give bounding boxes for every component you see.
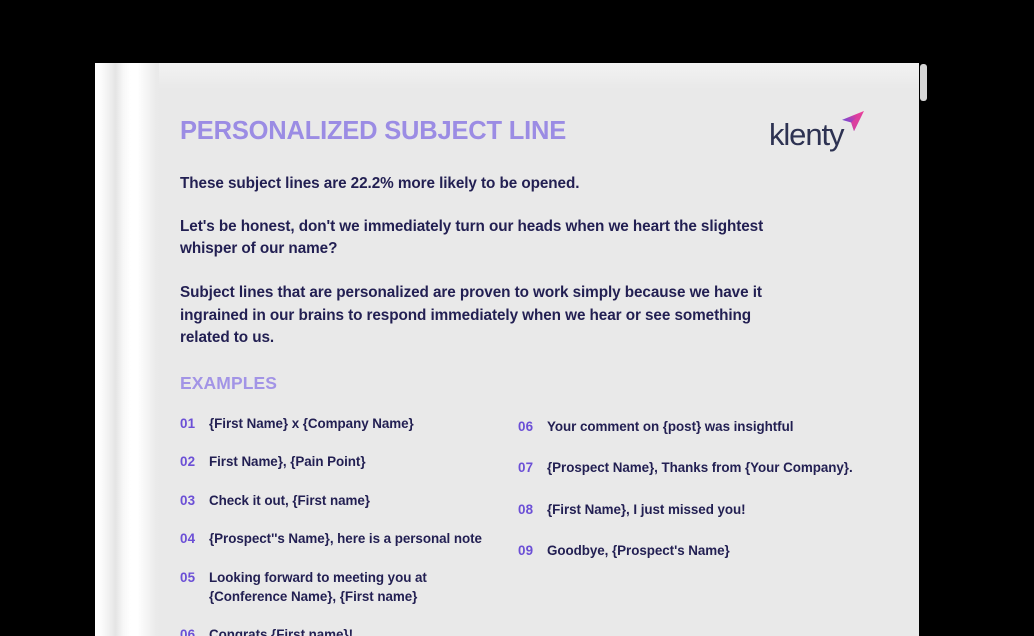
intro-paragraph-3: Subject lines that are personalized are … — [180, 282, 792, 350]
list-item-text: {Prospect Name}, Thanks from {Your Compa… — [547, 458, 853, 477]
list-item-number: 08 — [518, 500, 547, 519]
list-item-text-line2: {Conference Name}, {First name} — [209, 587, 427, 606]
screenshot-canvas: PERSONALIZED SUBJECT LINE klenty — [0, 0, 1034, 636]
examples-columns: 01 {First Name} x {Company Name} 02 Firs… — [180, 414, 891, 636]
list-item-number: 03 — [180, 491, 209, 510]
paper-plane-icon — [839, 109, 866, 136]
list-item-text: Check it out, {First name} — [209, 491, 370, 510]
list-item-text: Goodbye, {Prospect's Name} — [547, 541, 730, 560]
list-item-number: 04 — [180, 529, 209, 548]
list-item-number: 07 — [518, 458, 547, 477]
examples-right-column: 06 Your comment on {post} was insightful… — [518, 414, 878, 636]
list-item: 08 {First Name}, I just missed you! — [518, 500, 878, 519]
list-item: 06 Congrats {First name}! Have you thoug… — [180, 625, 518, 636]
klenty-logo: klenty — [769, 107, 867, 163]
list-item-text: Your comment on {post} was insightful — [547, 417, 793, 436]
list-item: 07 {Prospect Name}, Thanks from {Your Co… — [518, 458, 878, 477]
logo-wordmark: klenty — [769, 119, 843, 150]
list-item-number: 02 — [180, 452, 209, 471]
vertical-scrollbar-thumb[interactable] — [920, 64, 927, 101]
list-item-number: 09 — [518, 541, 547, 560]
list-item: 03 Check it out, {First name} — [180, 491, 518, 510]
list-item-number: 05 — [180, 568, 209, 587]
list-item-text: First Name}, {Pain Point} — [209, 452, 366, 471]
intro-paragraph-1: These subject lines are 22.2% more likel… — [180, 173, 792, 196]
list-item: 01 {First Name} x {Company Name} — [180, 414, 518, 433]
list-item-text-line1: Looking forward to meeting you at — [209, 570, 427, 585]
list-item-number: 06 — [180, 625, 209, 636]
list-item-text: Looking forward to meeting you at {Confe… — [209, 568, 427, 607]
list-item: 09 Goodbye, {Prospect's Name} — [518, 541, 878, 560]
examples-left-column: 01 {First Name} x {Company Name} 02 Firs… — [180, 414, 518, 636]
list-item-text: {First Name}, I just missed you! — [547, 500, 746, 519]
list-item-number: 06 — [518, 417, 547, 436]
list-item: 05 Looking forward to meeting you at {Co… — [180, 568, 518, 607]
list-item: 02 First Name}, {Pain Point} — [180, 452, 518, 471]
list-item-text-line1: Congrats {First name}! — [209, 627, 353, 636]
list-item-number: 01 — [180, 414, 209, 433]
document-header: PERSONALIZED SUBJECT LINE klenty — [180, 107, 891, 173]
list-item-text: Congrats {First name}! Have you thought … — [209, 625, 455, 636]
list-item-text: {Prospect''s Name}, here is a personal n… — [209, 529, 482, 548]
page-title: PERSONALIZED SUBJECT LINE — [180, 117, 566, 146]
list-item: 06 Your comment on {post} was insightful — [518, 417, 878, 436]
page-curl-binding — [95, 63, 159, 636]
examples-heading: EXAMPLES — [180, 373, 891, 394]
list-item-text: {First Name} x {Company Name} — [209, 414, 414, 433]
list-item: 04 {Prospect''s Name}, here is a persona… — [180, 529, 518, 548]
document-content: PERSONALIZED SUBJECT LINE klenty — [158, 63, 919, 636]
document-page: PERSONALIZED SUBJECT LINE klenty — [95, 63, 919, 636]
intro-paragraph-2: Let's be honest, don't we immediately tu… — [180, 216, 792, 261]
